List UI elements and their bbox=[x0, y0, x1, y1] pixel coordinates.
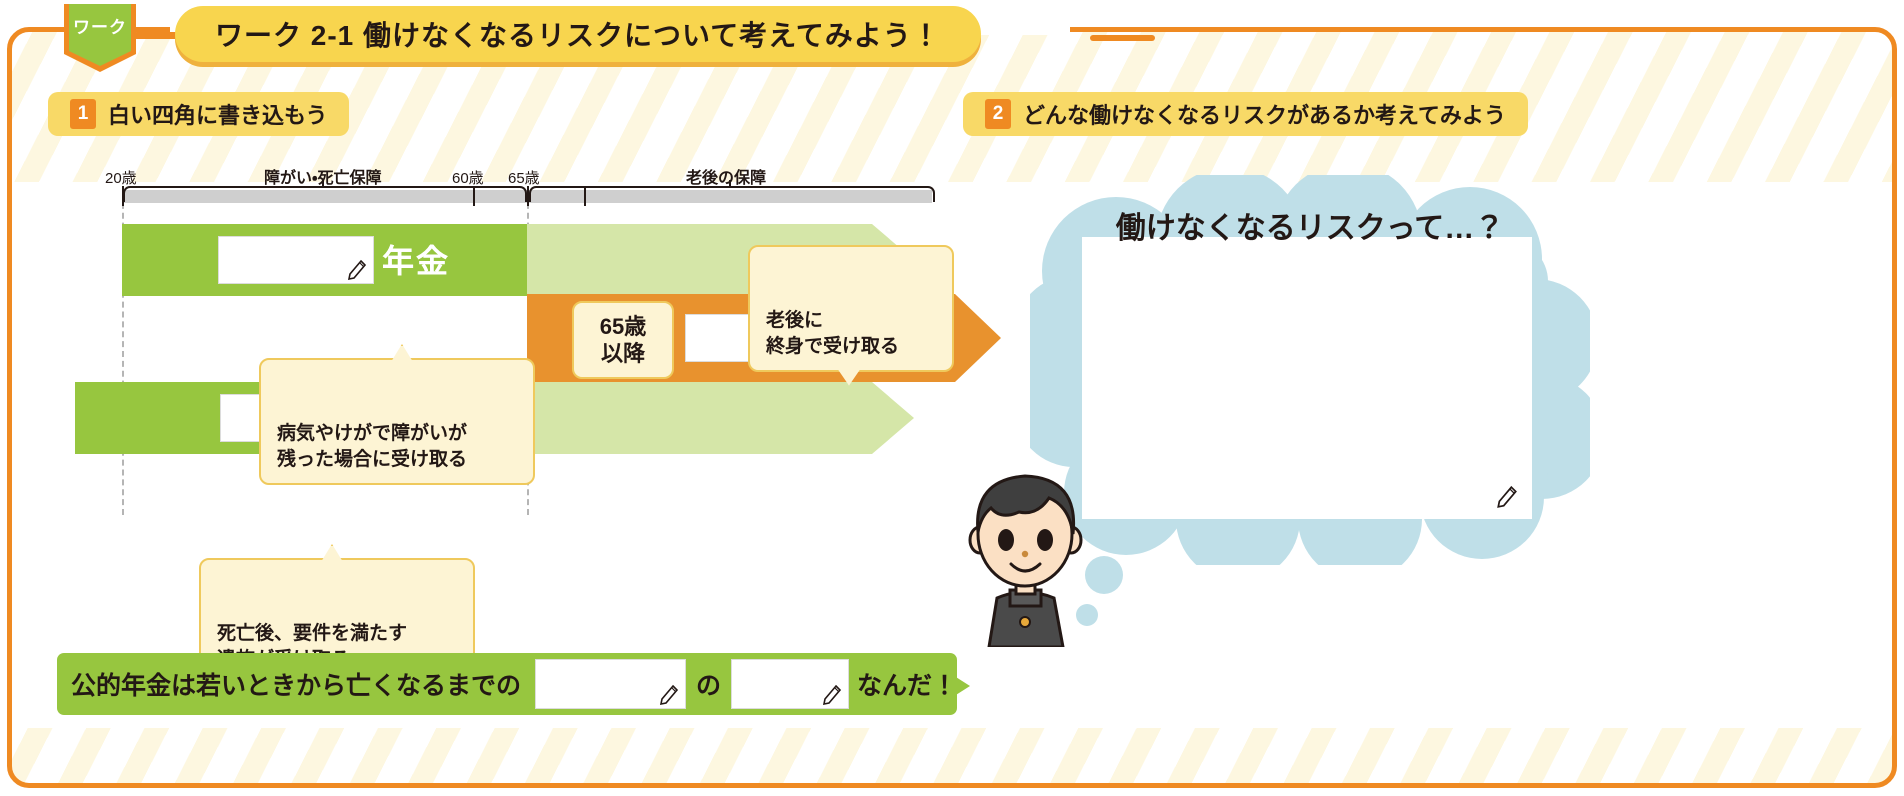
input-disability-pension[interactable] bbox=[218, 236, 374, 284]
work-badge: ワーク bbox=[60, 2, 140, 76]
worksheet-title-pill: ワーク 2-1 働けなくなるリスクについて考えてみよう！ bbox=[175, 6, 981, 62]
callout-tip-up bbox=[391, 344, 413, 360]
page-title: ワーク 2-1 働けなくなるリスクについて考えてみよう！ bbox=[215, 14, 941, 54]
summary-connector-text: の bbox=[696, 666, 721, 702]
summary-tail-text: なんだ！ bbox=[857, 666, 957, 702]
brace-right-stem bbox=[729, 180, 731, 188]
callout-old-age-text: 老後に 終身で受け取る bbox=[766, 310, 899, 357]
tag-age-line2: 以降 bbox=[601, 340, 645, 368]
worksheet-page: ワーク ワーク 2-1 働けなくなるリスクについて考えてみよう！ 1 白い四角に… bbox=[0, 0, 1904, 796]
bar-arrowhead bbox=[872, 382, 914, 454]
section-heading-1: 1 白い四角に書き込もう bbox=[48, 92, 349, 136]
brace-right bbox=[529, 186, 935, 202]
section-title-2: どんな働けなくなるリスクがあるか考えてみよう bbox=[1023, 98, 1506, 130]
cloud-title: 働けなくなるリスクって…？ bbox=[1030, 203, 1590, 247]
pencil-icon bbox=[347, 259, 367, 281]
bar-segment-faded bbox=[527, 382, 872, 454]
brace-left bbox=[123, 186, 527, 202]
callout-old-age-pension: 老後に 終身で受け取る bbox=[748, 245, 954, 372]
axis-label-age-20: 20歳 bbox=[105, 167, 137, 188]
summary-bar: 公的年金は若いときから亡くなるまでの の なんだ！ bbox=[57, 653, 957, 715]
label-nenkin-disability: 年金 bbox=[382, 236, 450, 282]
section-heading-2: 2 どんな働けなくなるリスクがあるか考えてみよう bbox=[963, 92, 1528, 136]
section-title-1: 白い四角に書き込もう bbox=[108, 98, 327, 130]
brace-left-stem bbox=[322, 180, 324, 188]
risk-cloud-panel: 働けなくなるリスクって…？ bbox=[1030, 175, 1590, 565]
callout-tip-down bbox=[838, 370, 860, 386]
student-character-illustration bbox=[953, 462, 1098, 647]
summary-lead-text: 公的年金は若いときから亡くなるまでの bbox=[71, 666, 521, 702]
tag-age-line1: 65歳 bbox=[600, 313, 646, 341]
input-summary-blank-2[interactable] bbox=[731, 659, 849, 709]
title-connector-right bbox=[1090, 35, 1155, 41]
axis-label-age-65: 65歳 bbox=[508, 167, 540, 188]
axis-label-age-60: 60歳 bbox=[452, 167, 484, 188]
section-number-2: 2 bbox=[985, 99, 1011, 129]
section-number-1: 1 bbox=[70, 99, 96, 129]
callout-disability-text: 病気やけがで障がいが 残った場合に受け取る bbox=[277, 423, 467, 470]
pencil-icon bbox=[822, 684, 842, 706]
input-summary-blank-1[interactable] bbox=[535, 659, 686, 709]
callout-disability-pension: 病気やけがで障がいが 残った場合に受け取る bbox=[259, 358, 535, 485]
input-risk-note[interactable] bbox=[1082, 237, 1532, 519]
tag-age-65-onward: 65歳 以降 bbox=[572, 301, 674, 379]
summary-bar-arrow bbox=[948, 672, 970, 700]
pencil-icon bbox=[659, 684, 679, 706]
callout-tip-up bbox=[321, 544, 343, 560]
axis-label-span-right: 老後の保障 bbox=[686, 164, 766, 188]
bar-arrowhead-orange bbox=[955, 294, 1001, 382]
pencil-icon bbox=[1496, 485, 1518, 509]
work-badge-label: ワーク bbox=[60, 2, 140, 48]
